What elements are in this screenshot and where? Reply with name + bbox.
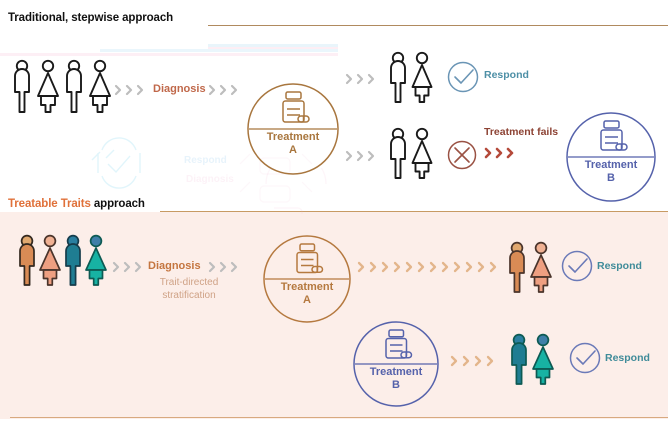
respond-label-branch-b: Respond — [605, 352, 650, 364]
arrow-chevrons-diagnosis-out-bottom — [208, 260, 244, 274]
title-highlight: Treatable Traits — [8, 198, 91, 210]
ghost-band-pink-2 — [0, 53, 338, 56]
stratification-line-2: stratification — [140, 289, 238, 302]
responder-people-branch-a — [504, 239, 558, 297]
stratification-label: Trait-directed stratification — [140, 276, 238, 302]
check-circle-icon-branch-a — [560, 249, 594, 283]
nonresponder-people-traditional — [384, 126, 440, 184]
arrow-chevrons-respond-branch — [345, 72, 381, 86]
treatment-b-label-bottom: Treatment B — [352, 366, 440, 392]
arrow-chevrons-to-treatment-b — [484, 146, 522, 160]
treatment-b-circle-bottom — [352, 320, 440, 408]
arrow-chevrons-long-branch-a — [357, 260, 505, 274]
check-circle-icon-top — [446, 60, 480, 94]
arrow-chevrons-branch-b — [450, 354, 500, 368]
panel-bottom-divider — [10, 417, 668, 418]
arrow-chevrons-diagnosis-in — [114, 83, 150, 97]
ghost-diagnosis-label: Diagnosis — [186, 174, 234, 185]
treatment-fails-label: Treatment fails — [484, 126, 558, 138]
treatment-a-label-bottom: Treatment A — [262, 281, 352, 307]
ghost-respond-label: Respond — [184, 155, 227, 166]
x-circle-icon — [446, 139, 478, 171]
title-rule-top — [208, 25, 668, 26]
diagnosis-label-top: Diagnosis — [153, 83, 206, 95]
arrow-chevrons-diagnosis-in-bottom — [112, 260, 148, 274]
responder-people-branch-b — [506, 331, 560, 389]
title-rule-bottom — [160, 211, 668, 212]
stratification-line-1: Trait-directed — [140, 276, 238, 289]
arrow-chevrons-fail-branch — [345, 149, 381, 163]
diagnosis-label-bottom: Diagnosis — [148, 260, 201, 272]
treatment-a-label-top: Treatment A — [246, 131, 340, 157]
patient-cohort-traditional — [8, 58, 114, 120]
treatment-a-circle-top — [246, 82, 340, 176]
pill-bottle-icon — [283, 92, 309, 122]
responder-people-traditional — [384, 50, 440, 108]
patient-cohort-stratified — [14, 232, 110, 294]
respond-label-branch-a: Respond — [597, 260, 642, 272]
treatment-a-circle-bottom — [262, 234, 352, 324]
respond-label-top: Respond — [484, 69, 529, 81]
ghost-band-blue-2 — [100, 49, 338, 52]
pill-bottle-icon — [297, 244, 323, 273]
arrow-chevrons-diagnosis-out — [208, 83, 244, 97]
pill-bottle-icon — [601, 121, 627, 150]
pill-bottle-icon — [386, 330, 412, 358]
treatment-b-circle-top — [565, 111, 657, 203]
page-title-traditional: Traditional, stepwise approach — [8, 12, 173, 24]
figure-canvas: Traditional, stepwise approach Treatable… — [0, 0, 668, 425]
treatment-b-label-top: Treatment B — [565, 159, 657, 185]
check-circle-icon-branch-b — [568, 341, 602, 375]
